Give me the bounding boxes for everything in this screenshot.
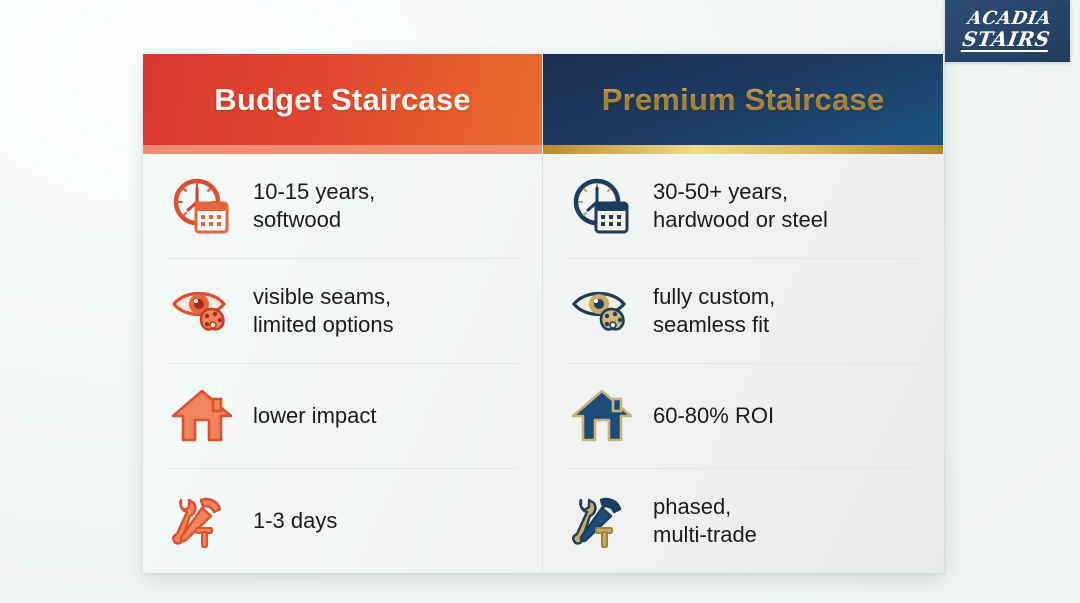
clock-calendar-icon xyxy=(169,173,235,239)
feature-label: lower impact xyxy=(253,402,376,430)
feature-row: visible seams, limited options xyxy=(167,259,518,364)
column-header-budget: Budget Staircase xyxy=(143,54,542,145)
feature-label: 30-50+ years, hardwood or steel xyxy=(653,178,828,234)
feature-list-premium: 30-50+ years, hardwood or steel xyxy=(543,154,943,573)
feature-row: lower impact xyxy=(167,364,518,469)
feature-row: phased, multi-trade xyxy=(567,469,919,573)
clock-calendar-icon xyxy=(569,173,635,239)
brand-logo-line-2: STAIRS xyxy=(961,29,1052,52)
feature-label: 10-15 years, softwood xyxy=(253,178,375,234)
feature-label: 1-3 days xyxy=(253,507,337,535)
eye-palette-icon xyxy=(569,278,635,344)
eye-palette-icon xyxy=(169,278,235,344)
brand-logo-line-1: ACADIA xyxy=(966,10,1052,28)
feature-label: 60-80% ROI xyxy=(653,402,774,430)
house-arrow-up-icon xyxy=(569,383,635,449)
header-accent-premium xyxy=(543,145,943,154)
column-title-budget: Budget Staircase xyxy=(214,82,470,118)
house-arrow-up-icon xyxy=(169,383,235,449)
feature-row: fully custom, seamless fit xyxy=(567,259,919,364)
column-header-premium: Premium Staircase xyxy=(543,54,943,145)
column-title-premium: Premium Staircase xyxy=(602,82,885,118)
feature-row: 60-80% ROI xyxy=(567,364,919,469)
feature-label: fully custom, seamless fit xyxy=(653,283,775,339)
feature-label: visible seams, limited options xyxy=(253,283,394,339)
feature-row: 10-15 years, softwood xyxy=(167,154,518,259)
column-premium: Premium Staircase xyxy=(543,54,943,573)
column-budget: Budget Staircase xyxy=(143,54,543,573)
brand-logo: ACADIA STAIRS xyxy=(945,0,1070,62)
feature-row: 30-50+ years, hardwood or steel xyxy=(567,154,919,259)
header-accent-budget xyxy=(143,145,542,154)
brand-logo-wordmark: ACADIA STAIRS xyxy=(961,10,1055,52)
feature-list-budget: 10-15 years, softwood xyxy=(143,154,542,573)
wrench-hammer-icon xyxy=(569,488,635,554)
feature-row: 1-3 days xyxy=(167,469,518,573)
feature-label: phased, multi-trade xyxy=(653,493,757,549)
wrench-hammer-icon xyxy=(169,488,235,554)
comparison-card: Budget Staircase xyxy=(143,54,944,573)
